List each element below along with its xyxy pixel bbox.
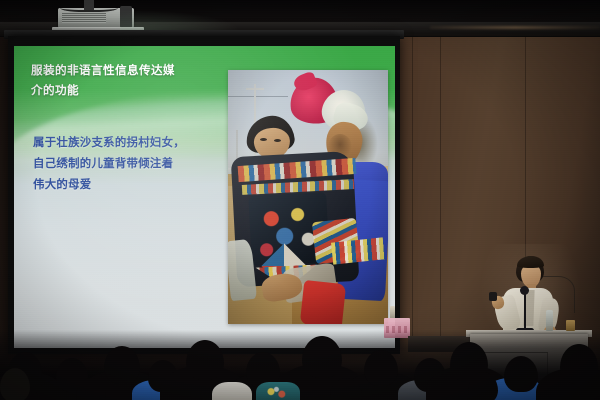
wall-seam (440, 36, 441, 336)
projector-cable (60, 2, 118, 12)
slide-title-line-2: 介的功能 (31, 80, 236, 100)
photo-vignette (228, 70, 388, 324)
microphone-icon (520, 286, 529, 295)
microphone-stand (524, 292, 526, 332)
wall-seam (412, 36, 413, 336)
slide-body-line-3: 伟大的母爱 (33, 174, 233, 195)
projector-arm (120, 6, 132, 28)
slide-title: 服装的非语言性信息传达媒 介的功能 (31, 60, 236, 100)
audience-member (504, 356, 538, 392)
presentation-clicker (489, 292, 497, 301)
slide-body-text: 属于壮族沙支系的拐村妇女， 自己绣制的儿童背带倾注着 伟大的母爱 (33, 132, 233, 195)
slide-title-line-1: 服装的非语言性信息传达媒 (31, 60, 236, 80)
audience-member (302, 336, 342, 378)
lecture-hall-photo: 服装的非语言性信息传达媒 介的功能 属于壮族沙支系的拐村妇女， 自己绣制的儿童背… (0, 0, 600, 400)
presenter-fringe (517, 256, 544, 268)
ceiling-light-strip (430, 26, 600, 29)
bag-print-graphic (262, 386, 292, 400)
audience-member (0, 368, 30, 400)
audience-member-white-shirt (212, 382, 252, 400)
slide-body-line-2: 自己绣制的儿童背带倾注着 (33, 153, 233, 174)
audience-member (104, 346, 140, 384)
water-bottle (546, 310, 553, 331)
projection-screen: 服装的非语言性信息传达媒 介的功能 属于壮族沙支系的拐村妇女， 自己绣制的儿童背… (14, 46, 395, 348)
audience-member (560, 344, 598, 384)
audience-member (364, 350, 398, 386)
slide-body-line-1: 属于壮族沙支系的拐村妇女， (33, 132, 233, 153)
audience-member (186, 340, 224, 380)
slide-photograph (228, 70, 388, 324)
projector-vents (62, 13, 106, 23)
